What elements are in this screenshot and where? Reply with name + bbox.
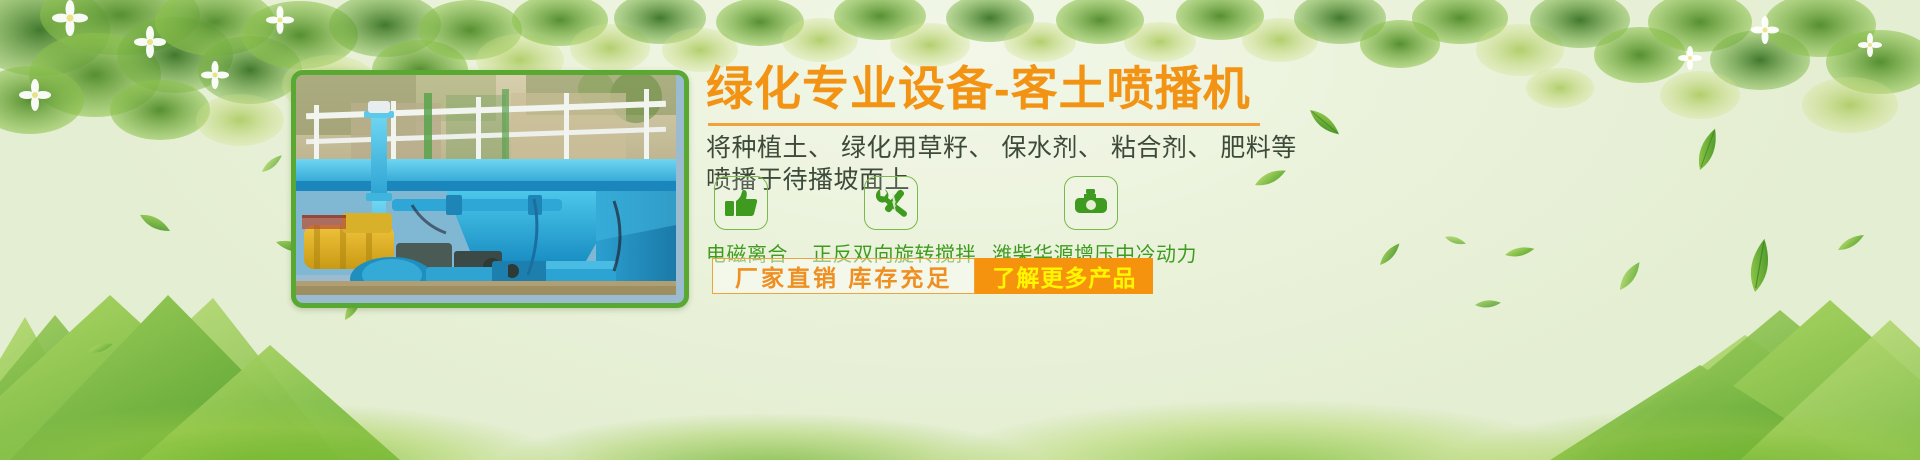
title-divider (708, 123, 1260, 126)
cta-row: 厂家直销 库存充足 了解更多产品 (712, 258, 1153, 294)
feature-list: 电磁离合 正反双向旋转搅拌 潍柴华源增压中冷动力 (706, 176, 1406, 268)
page-title: 绿化专业设备-客土喷播机 (706, 62, 1406, 117)
thumbs-up-icon (714, 176, 768, 230)
feature-icons-row (706, 176, 1406, 232)
engine-icon (1064, 176, 1118, 230)
product-photo-frame[interactable] (291, 70, 689, 308)
tools-icon (864, 176, 918, 230)
product-photo (296, 75, 684, 303)
cta-tagline: 厂家直销 库存充足 (712, 258, 975, 294)
grass-decoration (0, 310, 1920, 460)
promo-banner: 绿化专业设备-客土喷播机 将种植土、 绿化用草籽、 保水剂、 粘合剂、 肥料等 … (0, 0, 1920, 460)
subtitle-line-1: 将种植土、 绿化用草籽、 保水剂、 粘合剂、 肥料等 (706, 132, 1406, 164)
learn-more-button[interactable]: 了解更多产品 (975, 258, 1153, 294)
